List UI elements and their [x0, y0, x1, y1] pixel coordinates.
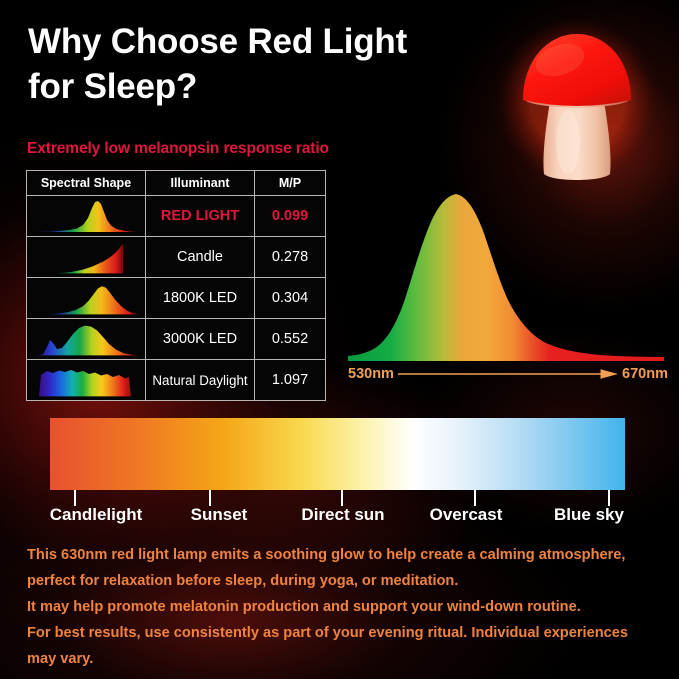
cell-illuminant: 3000K LED [146, 319, 255, 360]
scale-tick [209, 490, 211, 506]
scale-label-overcast: Overcast [430, 505, 503, 525]
spectral-shape-icon [27, 278, 146, 319]
table-row: RED LIGHT 0.099 [27, 196, 326, 237]
cell-illuminant: Natural Daylight [146, 360, 255, 401]
cell-mp-value: 0.552 [255, 319, 326, 360]
table-row: Natural Daylight 1.097 [27, 360, 326, 401]
color-temperature-scale [50, 418, 625, 490]
scale-label-candlelight: Candlelight [50, 505, 143, 525]
cell-mp-value: 0.304 [255, 278, 326, 319]
axis-start-label: 530nm [348, 366, 394, 382]
table-row: 3000K LED 0.552 [27, 319, 326, 360]
cell-mp-value: 0.278 [255, 237, 326, 278]
scale-label-group: Candlelight Sunset Direct sun Overcast B… [0, 505, 679, 531]
description-paragraph-3: For best results, use consistently as pa… [27, 621, 659, 673]
cell-illuminant: RED LIGHT [146, 196, 255, 237]
spectral-shape-icon [27, 319, 146, 360]
axis-end-label: 670nm [622, 366, 668, 382]
spectrum-chart [348, 186, 664, 361]
scale-label-direct-sun: Direct sun [301, 505, 384, 525]
melanopsin-response-table: Spectral Shape Illuminant M/P [26, 170, 326, 401]
cell-mp-value: 0.099 [255, 196, 326, 237]
spectral-shape-icon [27, 196, 146, 237]
description-paragraph-2: It may help promote melatonin production… [27, 595, 659, 621]
table-row: 1800K LED 0.304 [27, 278, 326, 319]
scale-label-sunset: Sunset [191, 505, 248, 525]
page-title-line-1: Why Choose Red Light [28, 22, 407, 61]
cell-mp-value: 1.097 [255, 360, 326, 401]
cell-illuminant: Candle [146, 237, 255, 278]
column-header-spectral-shape: Spectral Shape [27, 171, 146, 196]
scale-label-blue-sky: Blue sky [554, 505, 624, 525]
description-paragraph-1: This 630nm red light lamp emits a soothi… [27, 543, 659, 595]
spectral-shape-icon [27, 237, 146, 278]
column-header-mp: M/P [255, 171, 326, 196]
table-row: Candle 0.278 [27, 237, 326, 278]
axis-arrow-icon [398, 368, 618, 380]
cell-illuminant: 1800K LED [146, 278, 255, 319]
page-title-line-2: for Sleep? [28, 65, 498, 110]
page-title: Why Choose Red Light for Sleep? [28, 20, 498, 110]
scale-tick [474, 490, 476, 506]
infographic-page: Why Choose Red Light for Sleep? Extremel… [0, 0, 679, 679]
mushroom-lamp-image [492, 18, 662, 198]
scale-tick [608, 490, 610, 506]
scale-tick [74, 490, 76, 506]
table-header-row: Spectral Shape Illuminant M/P [27, 171, 326, 196]
description-text: This 630nm red light lamp emits a soothi… [27, 543, 659, 673]
table-subtitle: Extremely low melanopsin response ratio [27, 140, 329, 158]
spectral-shape-icon [27, 360, 146, 401]
spectrum-axis: 530nm 670nm [348, 363, 668, 385]
scale-tick [341, 490, 343, 506]
column-header-illuminant: Illuminant [146, 171, 255, 196]
